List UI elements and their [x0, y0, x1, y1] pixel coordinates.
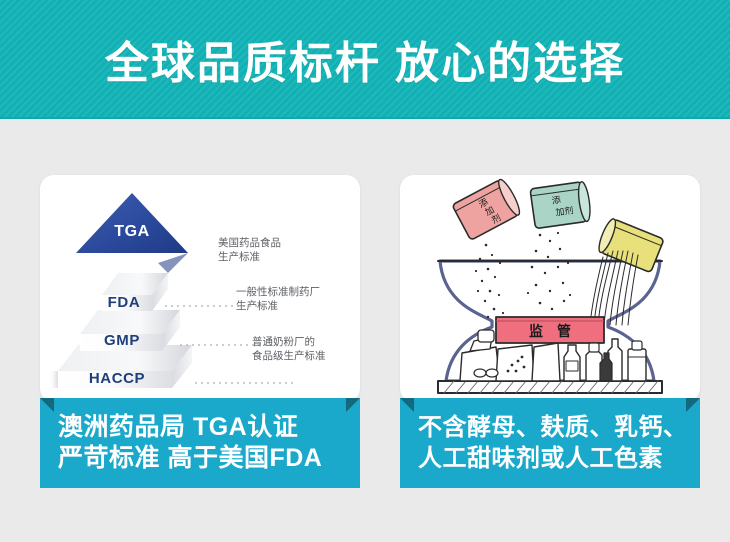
certification-pyramid-graphic: TGA FDA GMP HACCP 美国药品食品 生产标准 一般性标准制药厂 生… — [40, 175, 360, 402]
right-panel: 添 加 剂 添 加剂 — [400, 175, 700, 488]
svg-text:添: 添 — [551, 195, 561, 207]
annotation-haccp-line2: 食品级生产标准 — [252, 349, 326, 363]
caption-corner-right-icon — [686, 398, 700, 412]
additive-box-1: 添 加 剂 — [452, 177, 523, 240]
annotation-fda-line2: 生产标准 — [218, 250, 281, 264]
caption-corner-left-icon — [40, 398, 54, 412]
left-caption-bar: 澳洲药品局 TGA认证 严苛标准 高于美国FDA — [40, 398, 360, 488]
annotation-haccp: 普通奶粉厂的 食品级生产标准 — [252, 335, 326, 363]
pyramid-card: TGA FDA GMP HACCP 美国药品食品 生产标准 一般性标准制药厂 生… — [40, 175, 360, 402]
left-panel: TGA FDA GMP HACCP 美国药品食品 生产标准 一般性标准制药厂 生… — [40, 175, 360, 488]
additive-box-2: 添 加剂 — [530, 181, 592, 229]
pyramid-label-haccp: HACCP — [70, 370, 164, 387]
pyramid-base-extend — [48, 371, 58, 388]
left-caption-line2: 严苛标准 高于美国FDA — [58, 443, 360, 474]
annotation-fda-line1: 美国药品食品 — [218, 236, 281, 250]
annotation-gmp-line1: 一般性标准制药厂 — [236, 285, 320, 299]
page-title: 全球品质标杆 放心的选择 — [0, 0, 730, 117]
annotation-gmp: 一般性标准制药厂 生产标准 — [236, 285, 320, 313]
pyramid-label-gmp: GMP — [88, 332, 156, 349]
pyramid-label-tga: TGA — [109, 223, 155, 241]
right-caption-line1: 不含酵母、麸质、乳钙、 — [418, 412, 700, 443]
annotation-gmp-line2: 生产标准 — [236, 299, 320, 313]
illustration-card: 添 加 剂 添 加剂 — [400, 175, 700, 402]
pyramid-tier-tga-shadow — [158, 253, 188, 273]
caption-corner-left-icon — [400, 398, 414, 412]
annotation-haccp-line1: 普通奶粉厂的 — [252, 335, 326, 349]
right-caption-bar: 不含酵母、麸质、乳钙、 人工甜味剂或人工色素 — [400, 398, 700, 488]
regulation-band-label: 监 管 — [529, 323, 571, 340]
regulation-illustration-graphic: 添 加 剂 添 加剂 — [400, 175, 700, 402]
base-tray — [438, 381, 662, 393]
caption-corner-right-icon — [346, 398, 360, 412]
left-caption-line1: 澳洲药品局 TGA认证 — [58, 412, 360, 443]
right-caption-line2: 人工甜味剂或人工色素 — [418, 443, 700, 474]
promo-banner-page: 全球品质标杆 放心的选择 — [0, 0, 730, 542]
illustration-svg: 添 加 剂 添 加剂 — [400, 175, 700, 402]
pyramid-label-fda: FDA — [98, 294, 150, 311]
annotation-fda: 美国药品食品 生产标准 — [218, 236, 281, 264]
page-header: 全球品质标杆 放心的选择 — [0, 0, 730, 119]
